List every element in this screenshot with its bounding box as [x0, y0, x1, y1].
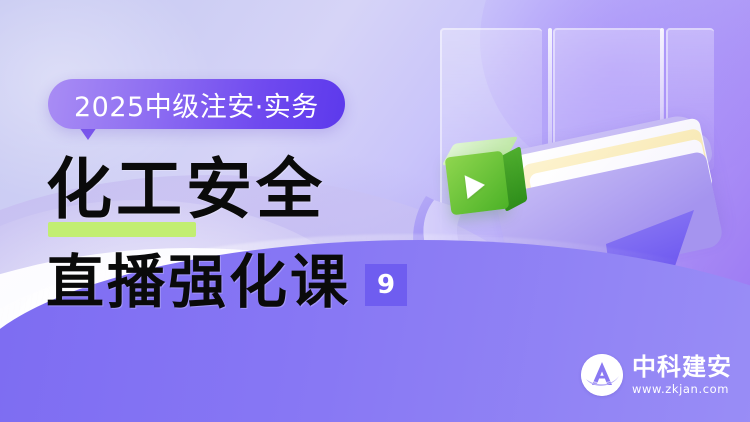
brand-name: 中科建安: [632, 355, 732, 379]
page-title: 化工安全: [46, 152, 326, 228]
zkjan-circle-logo-icon: [581, 354, 623, 396]
brand-logo[interactable]: 中科建安 www.zkjan.com: [581, 354, 732, 396]
subtitle-row: 直播强化课 9: [46, 248, 407, 316]
headline-block: 化工安全: [46, 152, 326, 228]
promo-banner: 2025中级注安·实务 化工安全 直播强化课 9 中科建安 www.zkjan.…: [0, 0, 750, 422]
play-triangle-icon: [465, 173, 487, 199]
episode-number-badge: 9: [365, 264, 407, 306]
course-category-label: 2025中级注安·实务: [74, 85, 319, 124]
course-category-badge: 2025中级注安·实务: [48, 79, 345, 129]
brand-url: www.zkjan.com: [632, 384, 732, 396]
page-subtitle: 直播强化课: [46, 248, 351, 316]
green-play-cube-icon: [444, 138, 528, 222]
brand-logo-text: 中科建安 www.zkjan.com: [632, 355, 732, 396]
